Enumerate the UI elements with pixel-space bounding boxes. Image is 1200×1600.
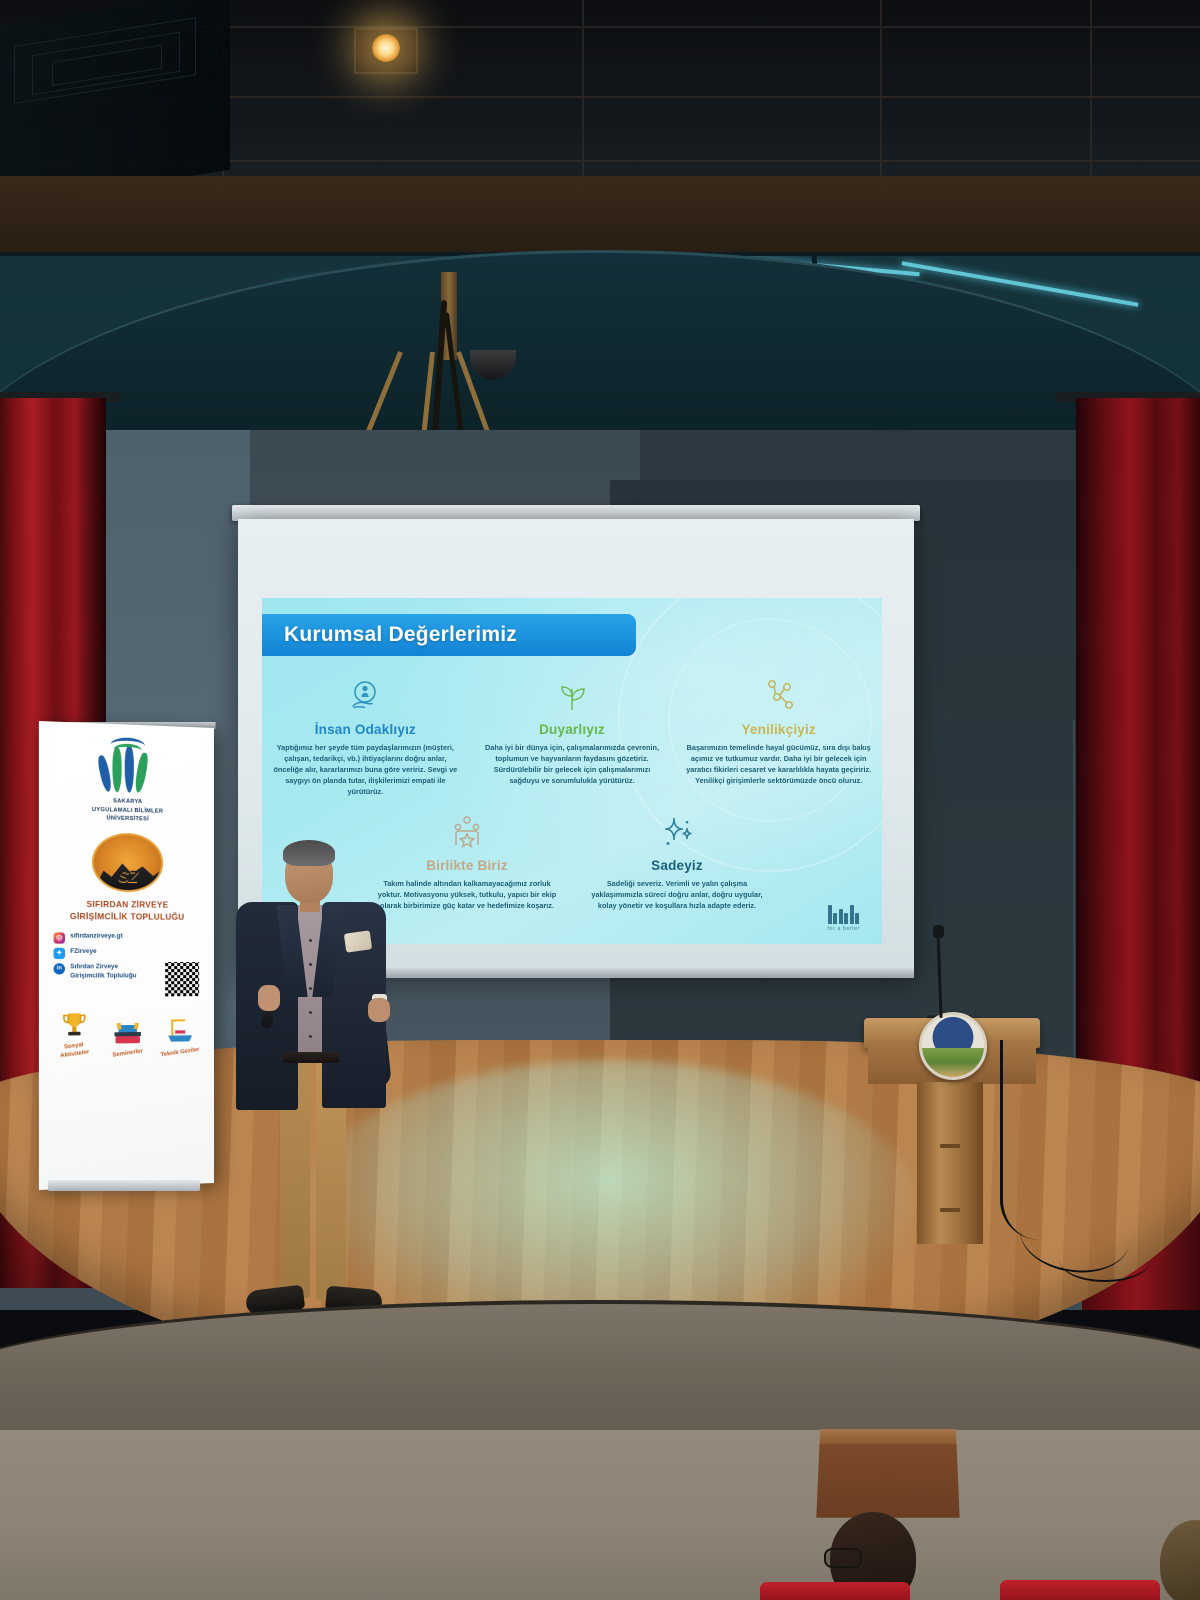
ship-crane-icon: [156, 1016, 204, 1047]
speaker-hair: [283, 840, 335, 866]
university-logo-icon: [98, 737, 157, 794]
presentation-slide: Kurumsal Değerlerimiz İnsan Odaklıyız Ya…: [262, 598, 882, 944]
social-handle: sifirdanzirveye.gt: [70, 932, 122, 941]
person-in-hand-icon: [272, 672, 459, 716]
conference-hall-photo: Kurumsal Değerlerimiz İnsan Odaklıyız Ya…: [0, 0, 1200, 1600]
value-card-insan-odakliyiz: İnsan Odaklıyız Yaptığımız her şeyde tüm…: [262, 672, 469, 797]
activity-label: Sosyal Aktiviteler: [49, 1039, 100, 1062]
audience-seat: [760, 1582, 910, 1600]
value-body: Yaptığımız her şeyde tüm paydaşlarımızın…: [272, 742, 459, 797]
speaker-pocket-square: [344, 930, 372, 952]
activity-teknik-geziler: Teknik Geziler: [156, 1016, 204, 1058]
audience-seat: [1000, 1580, 1160, 1600]
slide-values-row-1: İnsan Odaklıyız Yaptığımız her şeyde tüm…: [262, 672, 882, 797]
activity-icons: Sosyal Aktiviteler Seminerler: [47, 993, 206, 1060]
social-twitter: ✦ FZirveye: [54, 947, 214, 958]
value-body: Takım halinde altından kalkamayacağımız …: [372, 878, 562, 911]
value-body: Sadeliği severiz. Verimli ve yalın çalış…: [582, 878, 772, 911]
microphone-head-icon: [933, 925, 944, 938]
speaker-left-hand: [258, 985, 280, 1011]
ceiling-beam: [0, 176, 1200, 252]
house-floor: [0, 1430, 1200, 1600]
stage-seminar-icon: [103, 1016, 152, 1047]
team-star-icon: [372, 808, 562, 852]
sparkle-icon: [582, 808, 772, 852]
speaker-belt: [283, 1052, 339, 1063]
speaker-right-hand: [368, 998, 390, 1022]
club-name-line-2: GİRİŞİMCİLİK TOPLULUĞU: [39, 911, 214, 925]
qr-code-icon: [163, 960, 201, 998]
club-badge-icon: SZ: [92, 832, 163, 892]
instagram-icon: ◎: [54, 932, 65, 943]
social-handle: FZirveye: [70, 947, 96, 956]
activity-label: Seminerler: [103, 1047, 153, 1062]
slide-title: Kurumsal Değerlerimiz: [284, 623, 517, 647]
university-name: SAKARYA UYGULAMALI BİLİMLER ÜNİVERSİTESİ: [39, 795, 214, 826]
value-card-birlikte-biriz: Birlikte Biriz Takım halinde altından ka…: [362, 808, 572, 911]
linkedin-icon: in: [54, 963, 65, 974]
slide-values-row-2: Birlikte Biriz Takım halinde altından ka…: [362, 808, 782, 911]
value-card-duyarliyiz: Duyarlıyız Daha iyi bir dünya için, çalı…: [469, 672, 676, 797]
value-heading: Duyarlıyız: [479, 722, 666, 737]
podium-emblem-icon: [919, 1012, 987, 1080]
activity-label: Teknik Geziler: [156, 1046, 205, 1061]
value-card-yenilikciyiz: Yenilikçiyiz Başarımızın temelinde hayal…: [675, 672, 882, 797]
floor-cable: [1060, 1240, 1150, 1282]
banner-base: [48, 1180, 200, 1191]
social-instagram: ◎ sifirdanzirveye.gt: [54, 932, 214, 944]
club-badge-text: SZ: [94, 868, 161, 887]
club-name: SIFIRDAN ZİRVEYE GİRİŞİMCİLİK TOPLULUĞU: [39, 898, 214, 924]
value-heading: Sadeyiz: [582, 858, 772, 873]
molecule-network-icon: [685, 672, 872, 716]
ekol-logo: for a better: [827, 905, 860, 932]
social-handle: Sıfırdan Zirveye Girişimcilik Topluluğu: [70, 963, 136, 982]
value-heading: Birlikte Biriz: [372, 858, 562, 873]
ekol-wordmark-icon: [827, 905, 860, 924]
eyeglasses-icon: [824, 1548, 862, 1568]
podium-column: [917, 1082, 983, 1244]
warm-spotlight-icon: [372, 34, 400, 62]
value-heading: İnsan Odaklıyız: [272, 722, 459, 737]
activity-sosyal-aktiviteler: Sosyal Aktiviteler: [49, 1008, 99, 1059]
value-card-sadeyiz: Sadeyiz Sadeliği severiz. Verimli ve yal…: [572, 808, 782, 911]
leaf-icon: [479, 672, 666, 716]
slide-title-bar: Kurumsal Değerlerimiz: [262, 614, 636, 656]
trophy-icon: [49, 1008, 99, 1039]
value-heading: Yenilikçiyiz: [685, 722, 872, 737]
twitter-icon: ✦: [54, 947, 65, 958]
value-body: Başarımızın temelinde hayal gücümüz, sır…: [685, 742, 872, 786]
wooden-block: [816, 1442, 959, 1518]
value-body: Daha iyi bir dünya için, çalışmalarımızd…: [479, 742, 666, 786]
ekol-tagline: for a better: [827, 926, 860, 932]
rollup-banner: SAKARYA UYGULAMALI BİLİMLER ÜNİVERSİTESİ…: [39, 721, 214, 1190]
activity-seminerler: Seminerler: [103, 1016, 152, 1058]
